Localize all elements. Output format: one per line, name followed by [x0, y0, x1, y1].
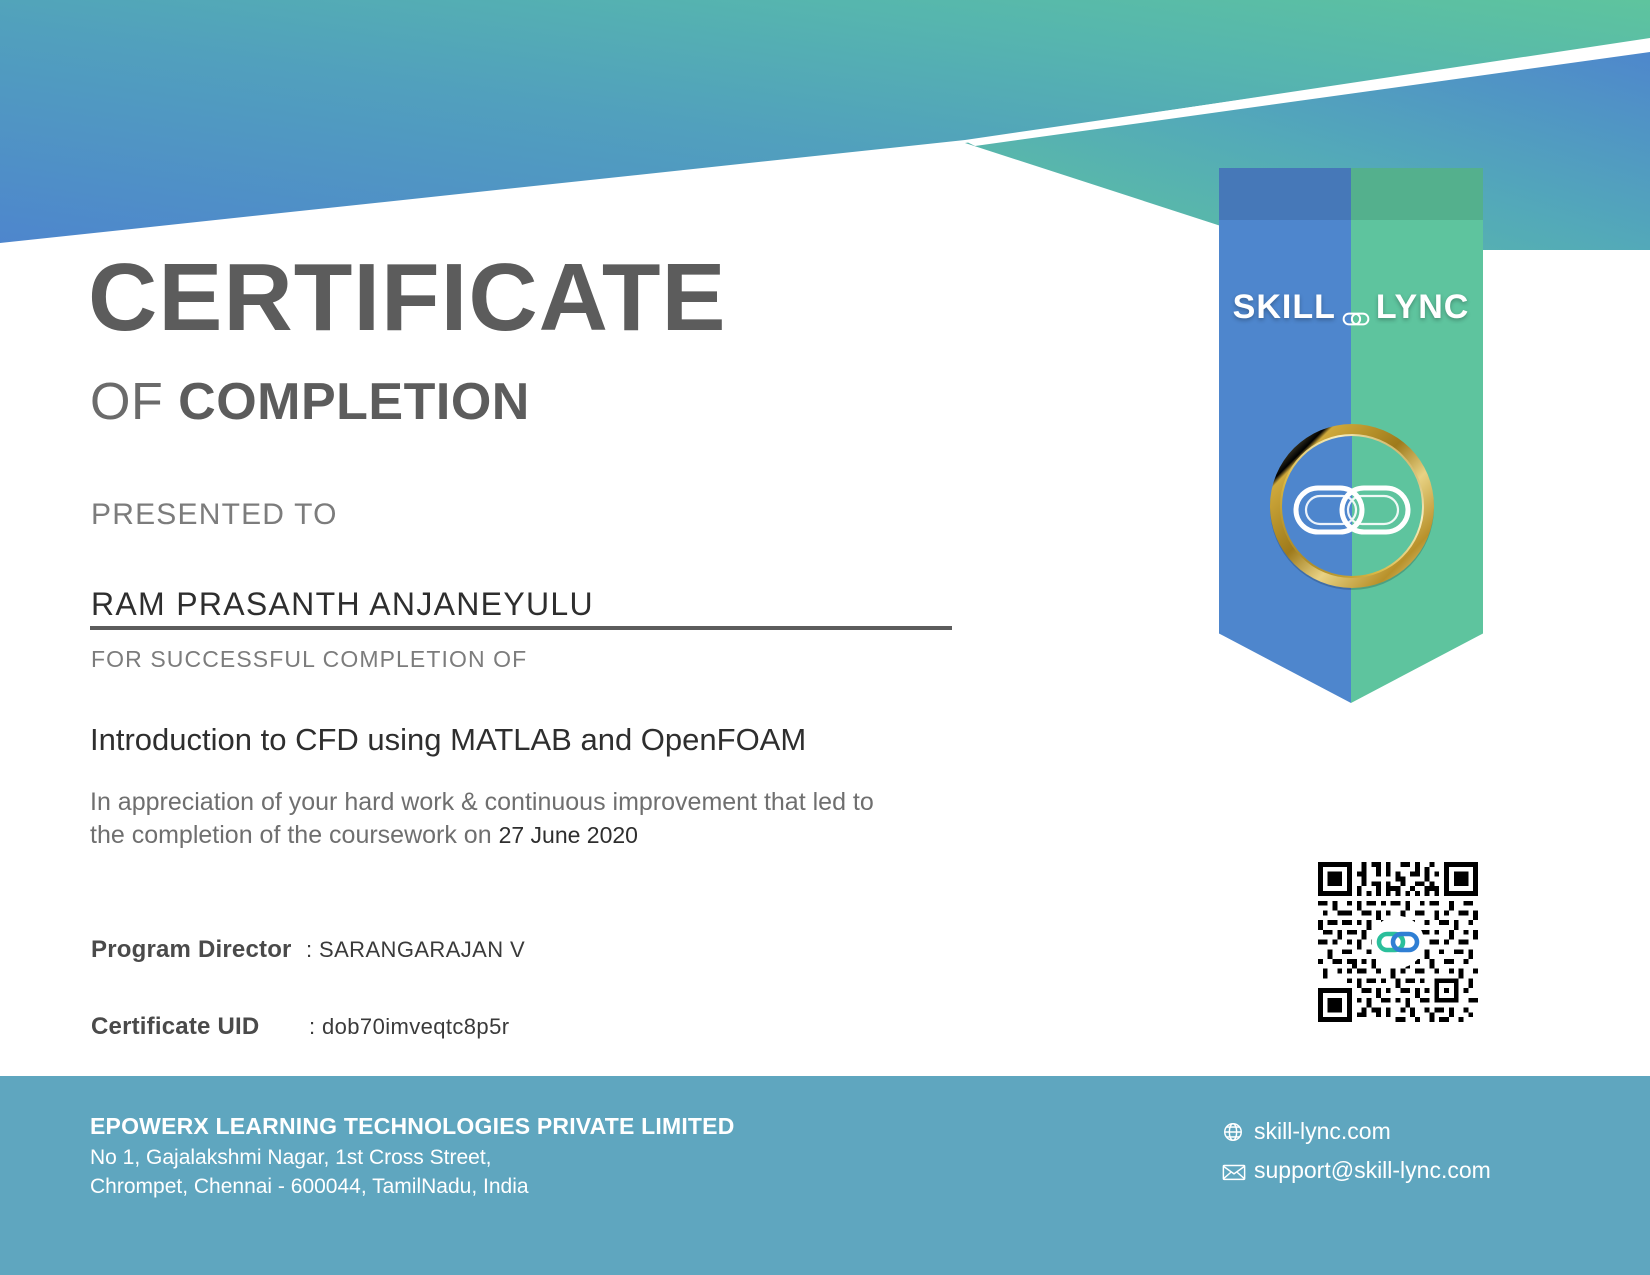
subtitle-completion: COMPLETION: [178, 373, 530, 431]
footer-website-row[interactable]: skill-lync.com: [1222, 1120, 1491, 1143]
footer-website[interactable]: skill-lync.com: [1254, 1118, 1391, 1144]
footer-address-line-2: Chrompet, Chennai - 600044, TamilNadu, I…: [90, 1175, 529, 1198]
skill-lync-wordmark: SKILL LYNC: [1219, 288, 1483, 327]
program-director-row: Program Director: SARANGARAJAN V: [91, 936, 525, 964]
footer-company-name: EPOWERX LEARNING TECHNOLOGIES PRIVATE LI…: [90, 1113, 735, 1140]
appreciation-line-2: the completion of the coursework on: [90, 821, 499, 849]
footer-email-row[interactable]: support@skill-lync.com: [1222, 1159, 1491, 1184]
completion-date: 27 June 2020: [499, 822, 638, 848]
certificate-uid-row: Certificate UID: dob70imveqtc8p5r: [91, 1013, 509, 1041]
brand-ribbon: SKILL LYNC: [1219, 168, 1483, 703]
page-title: CERTIFICATE: [88, 250, 727, 346]
footer-bar: EPOWERX LEARNING TECHNOLOGIES PRIVATE LI…: [0, 1076, 1650, 1275]
program-director-value: : SARANGARAJAN V: [306, 937, 525, 963]
footer-company-block: EPOWERX LEARNING TECHNOLOGIES PRIVATE LI…: [90, 1113, 735, 1202]
certificate-uid-value: : dob70imveqtc8p5r: [309, 1014, 509, 1040]
qr-code[interactable]: [1318, 862, 1478, 1022]
ribbon-top-shadow: [1219, 168, 1483, 220]
wordmark-lync: LYNC: [1376, 288, 1469, 326]
qr-center-logo: [1372, 916, 1424, 968]
recipient-underline: [90, 626, 952, 630]
footer-address-line-1: No 1, Gajalakshmi Nagar, 1st Cross Stree…: [90, 1146, 492, 1169]
subtitle-of: OF: [90, 373, 178, 431]
for-completion-label: FOR SUCCESSFUL COMPLETION OF: [91, 646, 527, 673]
skill-lync-link-icon: [1372, 916, 1424, 968]
gold-medallion-link-icon: [1260, 414, 1444, 598]
recipient-name: RAM PRASANTH ANJANEYULU: [91, 586, 594, 623]
appreciation-text: In appreciation of your hard work & cont…: [90, 786, 920, 852]
certificate-page: SKILL LYNC: [0, 0, 1650, 1275]
footer-email[interactable]: support@skill-lync.com: [1254, 1157, 1491, 1183]
envelope-icon: [1222, 1162, 1248, 1184]
program-director-label: Program Director: [91, 936, 306, 964]
page-subtitle: OF COMPLETION: [90, 376, 530, 428]
wordmark-skill: SKILL: [1233, 288, 1336, 326]
course-name: Introduction to CFD using MATLAB and Ope…: [90, 722, 806, 758]
appreciation-line-1: In appreciation of your hard work & cont…: [90, 788, 874, 816]
certificate-uid-label: Certificate UID: [91, 1013, 309, 1041]
footer-address: No 1, Gajalakshmi Nagar, 1st Cross Stree…: [90, 1144, 735, 1202]
link-chain-icon: [1342, 299, 1370, 319]
presented-to-label: PRESENTED TO: [91, 498, 338, 532]
footer-contact-block: skill-lync.com support@skill-lync.com: [1222, 1120, 1491, 1200]
globe-icon: [1222, 1121, 1248, 1143]
